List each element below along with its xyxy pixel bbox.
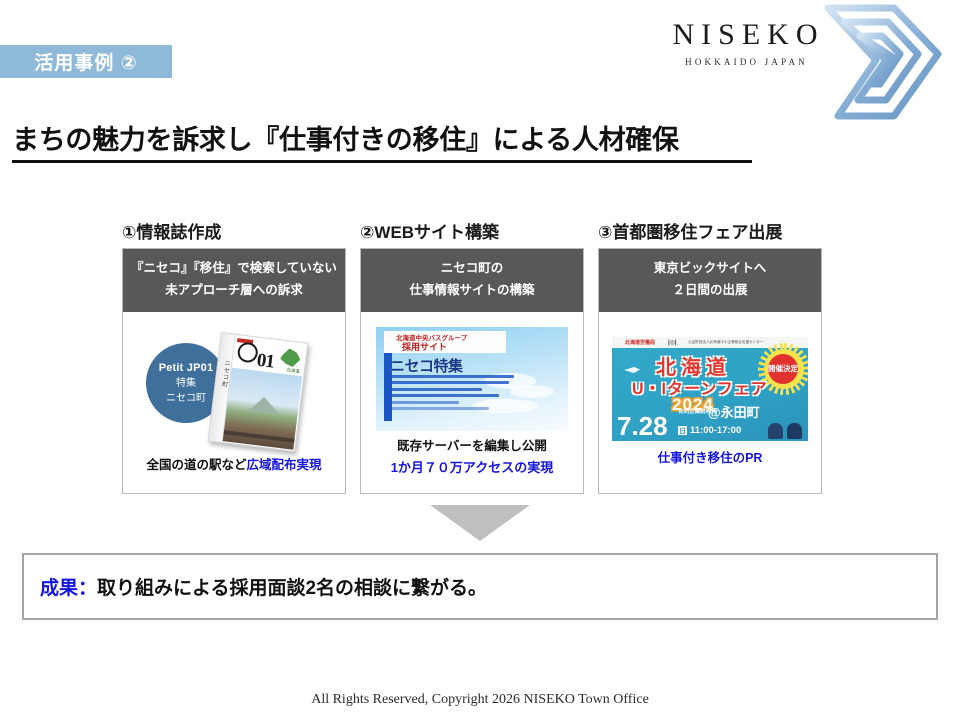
card-header-line2: ２日間の出展 [603, 280, 817, 302]
logo-wordmark: NISEKO [650, 20, 840, 50]
logo-tagline: HOKKAIDO JAPAN [650, 57, 840, 67]
column-web-site: ②WEBサイト構築 ニセコ町の 仕事情報サイトの構築 北海道中央バスグループ 採… [360, 218, 584, 494]
magazine-badge-title: Petit JP01 [159, 360, 214, 377]
people-illustration-icon [768, 417, 804, 439]
caption-black-part: 全国の道の駅など [146, 458, 246, 472]
website-header-band: 北海道中央バスグループ 採用サイト [384, 331, 506, 353]
card: ニセコ町の 仕事情報サイトの構築 北海道中央バスグループ 採用サイト ニセコ特集 [360, 248, 584, 494]
card-caption: 全国の道の駅など広域配布実現 [146, 457, 321, 474]
website-headline: ニセコ特集 [390, 355, 463, 376]
card-header: 東京ビックサイトへ ２日間の出展 [599, 249, 821, 312]
card-header-line1: ニセコ町の [365, 258, 579, 280]
card-header-line1: 『ニセコ』『移住』で検索していない [127, 258, 341, 280]
caption-black-part: 既存サーバーを編集し公開 [391, 438, 554, 455]
magazine-badge-town: ニセコ町 [166, 391, 206, 406]
airplane-icon [624, 367, 640, 373]
poster-organizer-note: 公益財団法人北海道中小企業総合支援センター [688, 340, 763, 345]
website-screenshot: 北海道中央バスグループ 採用サイト ニセコ特集 [376, 327, 568, 431]
caption-blue-part: 広域配布実現 [247, 458, 322, 472]
card-caption: 既存サーバーを編集し公開 1か月７０万アクセスの実現 [391, 438, 554, 476]
card: 『ニセコ』『移住』で検索していない 未アプローチ層への訴求 Petit JP01… [122, 248, 346, 494]
column-heading: ②WEBサイト構築 [360, 218, 584, 243]
result-label: 成果： [40, 578, 97, 599]
poster-time: 11:00-17:00 [690, 425, 741, 436]
column-heading: ③首都圏移住フェア出展 [598, 218, 822, 243]
card-caption: 仕事付き移住のPR [658, 450, 763, 467]
page-title: まちの魅力を訴求し『仕事付きの移住』による人材確保 [12, 118, 752, 163]
section-badge: 活用事例 ② [0, 45, 172, 78]
poster-weekday: 日 [678, 426, 687, 435]
result-box: 成果：取り組みによる採用面談2名の相談に繋がる。 [22, 553, 938, 620]
column-heading: ①情報誌作成 [122, 218, 346, 243]
down-arrow-icon [430, 505, 530, 541]
website-band-title: 採用サイト [402, 340, 447, 353]
railway-line-icon [224, 430, 295, 443]
poster-date: 7.28 [617, 413, 668, 439]
card-header-line1: 東京ビックサイトへ [603, 258, 817, 280]
card-header-line2: 未アプローチ層への訴求 [127, 280, 341, 302]
cloud-shape-icon [510, 385, 554, 398]
poster-organizer-mark-icon: |◎| [668, 339, 677, 346]
card-body: 北海道労働局 |◎| 公益財団法人北海道中小企業総合支援センター 開催決定 北海… [599, 312, 821, 493]
poster-venue: @永田町 [708, 402, 760, 421]
column-info-magazine: ①情報誌作成 『ニセコ』『移住』で検索していない 未アプローチ層への訴求 Pet… [122, 218, 346, 494]
mountain-shape-icon [248, 395, 282, 415]
event-poster-image: 北海道労働局 |◎| 公益財団法人北海道中小企業総合支援センター 開催決定 北海… [612, 337, 808, 441]
result-body: 取り組みによる採用面談2名の相談に繋がる。 [97, 578, 487, 599]
result-text: 成果：取り組みによる採用面談2名の相談に繋がる。 [24, 573, 487, 600]
footer-copyright: All Rights Reserved, Copyright 2026 NISE… [0, 692, 960, 708]
poster-status-badge: 開催決定 [768, 354, 798, 384]
magazine-photo [223, 368, 302, 450]
card-header-line2: 仕事情報サイトの構築 [365, 280, 579, 302]
column-migration-fair: ③首都圏移住フェア出展 東京ビックサイトへ ２日間の出展 北海道労働局 |◎| … [598, 218, 822, 494]
card-header: 『ニセコ』『移住』で検索していない 未アプローチ層への訴求 [123, 249, 345, 312]
poster-organizer: 北海道労働局 [625, 339, 655, 346]
card-header: ニセコ町の 仕事情報サイトの構築 [361, 249, 583, 312]
magazine-artwork: Petit JP01 特集 ニセコ町 ニセコ町 01 北海道 [136, 331, 332, 451]
caption-blue-part: 1か月７０万アクセスの実現 [391, 459, 554, 477]
card: 東京ビックサイトへ ２日間の出展 北海道労働局 |◎| 公益財団法人北海道中小企… [598, 248, 822, 494]
magazine-cover-image: ニセコ町 01 北海道 [208, 332, 309, 452]
niseko-logo: NISEKO HOKKAIDO JAPAN [648, 8, 948, 118]
hokkaido-map-icon [279, 347, 301, 367]
card-body: Petit JP01 特集 ニセコ町 ニセコ町 01 北海道 [123, 312, 345, 493]
process-columns: ①情報誌作成 『ニセコ』『移住』で検索していない 未アプローチ層への訴求 Pet… [122, 218, 822, 494]
website-text-lines [390, 375, 514, 414]
card-body: 北海道中央バスグループ 採用サイト ニセコ特集 既存サーバーを編集し公開 1か月… [361, 312, 583, 493]
magazine-logo-number: 01 [256, 350, 275, 373]
magazine-badge-feature: 特集 [176, 376, 196, 391]
